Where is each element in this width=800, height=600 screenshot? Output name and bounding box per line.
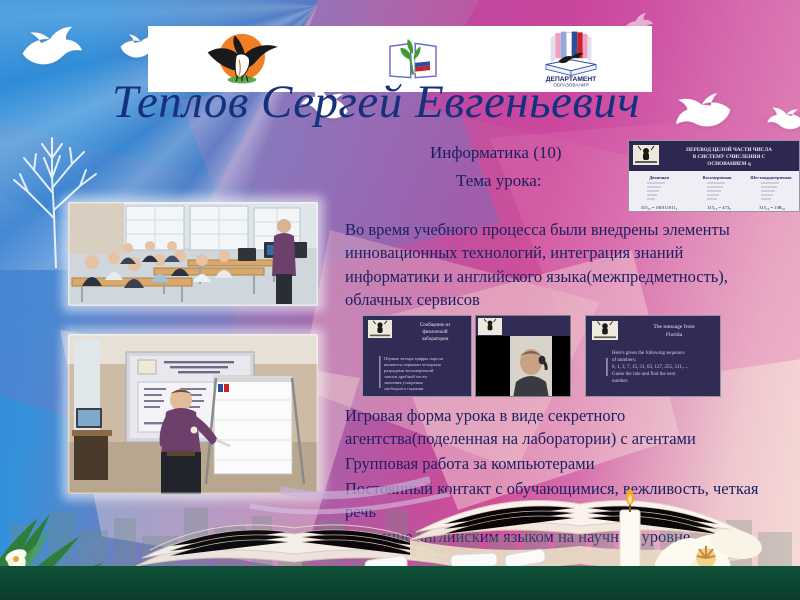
thumb-title-line1: Сообщение из <box>420 323 450 328</box>
thumb-col-label: Шестнадцатеричная <box>750 175 792 180</box>
thumb-result: 315₁₀ = 13B₁₆ <box>759 205 785 210</box>
thumb-title-line1: The message from <box>653 323 695 330</box>
thumb-body-line: являются первыми четырьмя <box>384 362 442 367</box>
flowers-left-image <box>0 478 184 598</box>
classroom-students-photo <box>68 202 318 306</box>
thumb-title-line2: В СИСТЕМУ СЧИСЛЕНИЯ С <box>693 154 766 160</box>
dove-icon <box>765 103 800 136</box>
topic-label: Тема урока: <box>456 171 542 191</box>
presentation-slide: ДЕПАРТАМЕНТ ОБРАЗОВАНИЯ Теплов Сергей Ев… <box>0 0 800 600</box>
thumb-body-line: свободного падения <box>384 386 424 391</box>
thumbnail-number-base-conversion[interactable]: ПЕРЕВОД ЦЕЛОЙ ЧАСТИ ЧИСЛА В СИСТЕМУ СЧИС… <box>628 140 800 212</box>
thumb-title-line1: ПЕРЕВОД ЦЕЛОЙ ЧАСТИ ЧИСЛА <box>686 145 772 153</box>
bullet-list: Игровая форма урока в виде секретного аг… <box>345 404 760 551</box>
thumbnail-agent-video-message[interactable] <box>475 315 571 397</box>
bottom-green-bar <box>0 566 800 600</box>
list-item: Групповая работа за компьютерами <box>345 452 760 475</box>
thumb-result: 315₁₀ = 473₈ <box>707 205 731 210</box>
thumb-title-line3: лаборатории <box>422 337 449 342</box>
thumb-title-line3: ОСНОВАНИЕМ q <box>707 161 751 167</box>
thumbnail-message-from-florida[interactable]: The message from Florida Here's given th… <box>585 315 721 397</box>
thumb-result: 315₁₀ = 100111011₂ <box>641 205 678 210</box>
list-item: Постоянный контакт с обучающимися, вежли… <box>345 477 760 523</box>
thumb-body-line: Первые четыре цифры пароля <box>384 356 444 361</box>
thumb-title-line2: Florida <box>666 332 683 338</box>
thumbnail-physics-lab-message[interactable]: Сообщение из физической лаборатории Перв… <box>362 315 472 397</box>
list-item: Владение английским языком на научном ур… <box>345 525 760 548</box>
thumb-body-line: of numbers: <box>612 358 636 363</box>
thumb-body-line: разрядами восьмеричной <box>384 368 434 373</box>
thumb-title-line2: физической <box>423 330 448 335</box>
thumb-col-label: Восьмеричная <box>703 175 733 180</box>
thumb-body-line: Guess the rule and find the next <box>612 372 676 377</box>
dove-icon <box>15 18 87 77</box>
list-item: Игровая форма урока в виде секретного аг… <box>345 404 760 450</box>
thumb-body-line: значения ускорения <box>384 380 424 385</box>
thumb-body-line: Here's given the following sequence <box>612 351 685 356</box>
page-title: Теплов Сергей Евгеньевич <box>112 78 712 127</box>
thumb-body-line: записи дробной части <box>384 374 427 379</box>
thumb-body-line: number. <box>612 379 628 384</box>
main-paragraph: Во время учебного процесса были внедрены… <box>345 218 765 312</box>
teacher-presenting-photo <box>68 334 318 494</box>
subject-label: Информатика (10) <box>430 143 562 163</box>
thumb-sequence: 0, 1, 3, 7, 15, 31, 63, 127, 255, 511,..… <box>612 365 688 370</box>
thumb-col-label: Двоичная <box>649 175 669 180</box>
